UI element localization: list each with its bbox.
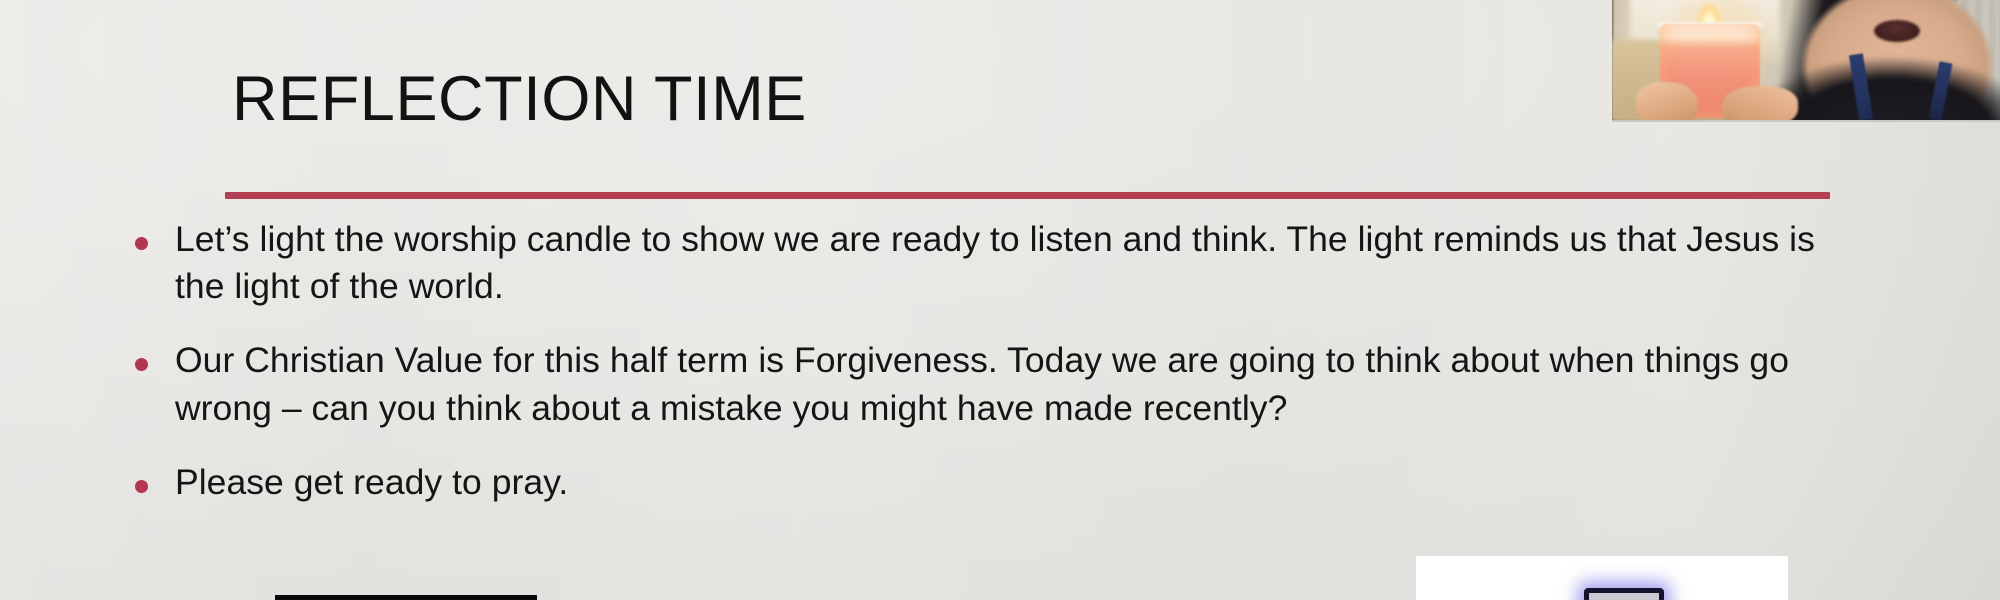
title-accent-rule <box>225 192 1830 199</box>
webcam-scene <box>1612 0 2000 120</box>
screen-icon <box>1584 588 1664 600</box>
list-item-text: Please get ready to pray. <box>175 459 1865 506</box>
list-item: Our Christian Value for this half term i… <box>128 337 1888 431</box>
bullet-dot-icon <box>135 237 148 250</box>
list-item: Please get ready to pray. <box>128 459 1888 506</box>
presenter-mouth <box>1874 20 1920 42</box>
bullet-list: Let’s light the worship candle to show w… <box>128 216 1888 506</box>
document-thumbnail-panel[interactable] <box>1416 556 1788 600</box>
presentation-slide: REFLECTION TIME Let’s light the worship … <box>0 0 2000 600</box>
list-item-text: Let’s light the worship candle to show w… <box>175 216 1865 310</box>
list-item: Let’s light the worship candle to show w… <box>128 216 1888 310</box>
bullet-dot-icon <box>135 480 148 493</box>
bottom-progress-bar <box>275 595 537 600</box>
list-item-text: Our Christian Value for this half term i… <box>175 337 1865 431</box>
presenter-webcam-feed[interactable] <box>1612 0 2000 122</box>
presenter-left-hand <box>1636 82 1698 122</box>
presenter-right-hand <box>1722 86 1798 122</box>
bullet-dot-icon <box>135 358 148 371</box>
page-title: REFLECTION TIME <box>232 68 807 131</box>
